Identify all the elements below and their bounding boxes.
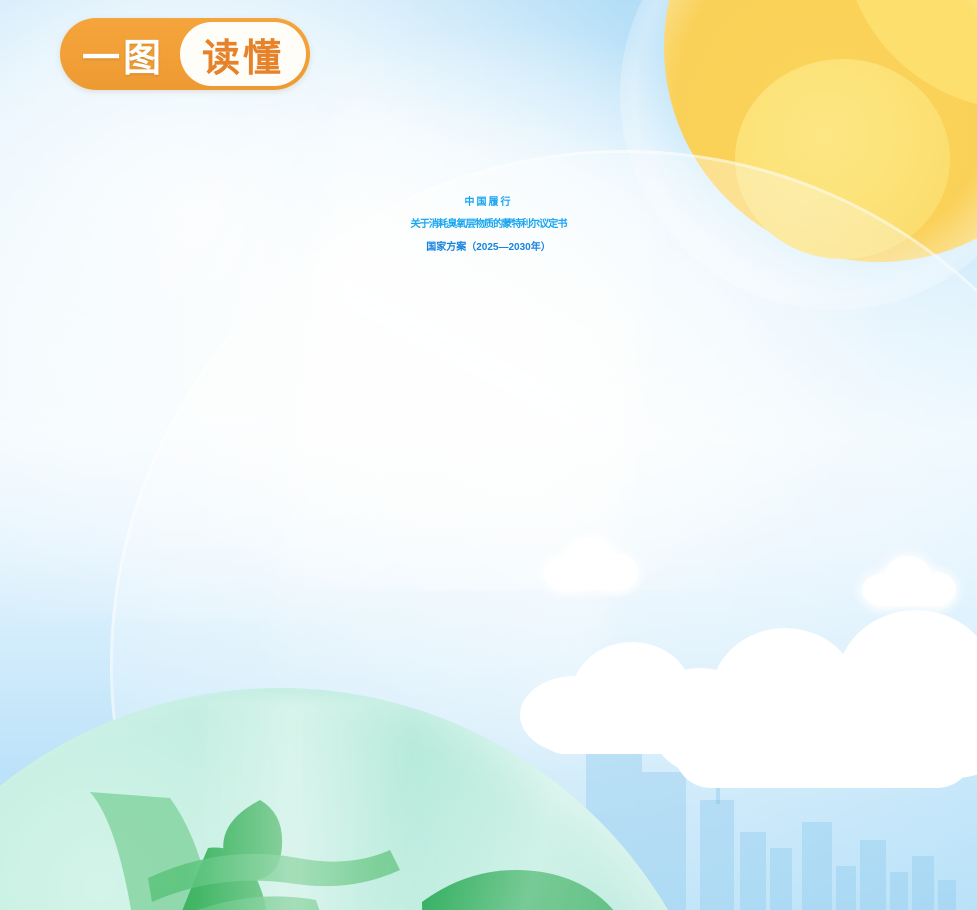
- badge-right-label: 读懂: [180, 22, 306, 86]
- cloud-mid-center: [520, 628, 760, 758]
- yi-tu-du-dong-badge[interactable]: 一图 读懂: [60, 18, 310, 90]
- title-line-3: 国家方案（2025—2030年）: [0, 243, 977, 253]
- title-line-2: 关于消耗臭氧层物质的蒙特利尔议定书: [0, 220, 977, 230]
- cloud-far-right: [862, 552, 958, 608]
- poster-title-block: 中国履行 关于消耗臭氧层物质的蒙特利尔议定书 国家方案（2025—2030年）: [0, 198, 977, 253]
- cloud-small-upper: [544, 534, 640, 592]
- globe-highlight: [190, 698, 420, 910]
- badge-left-label: 一图: [60, 18, 180, 90]
- infographic-poster: 一图 读懂 中国履行 关于消耗臭氧层物质的蒙特利尔议定书 国家方案（2025—2…: [0, 0, 977, 910]
- title-line-1: 中国履行: [0, 198, 977, 208]
